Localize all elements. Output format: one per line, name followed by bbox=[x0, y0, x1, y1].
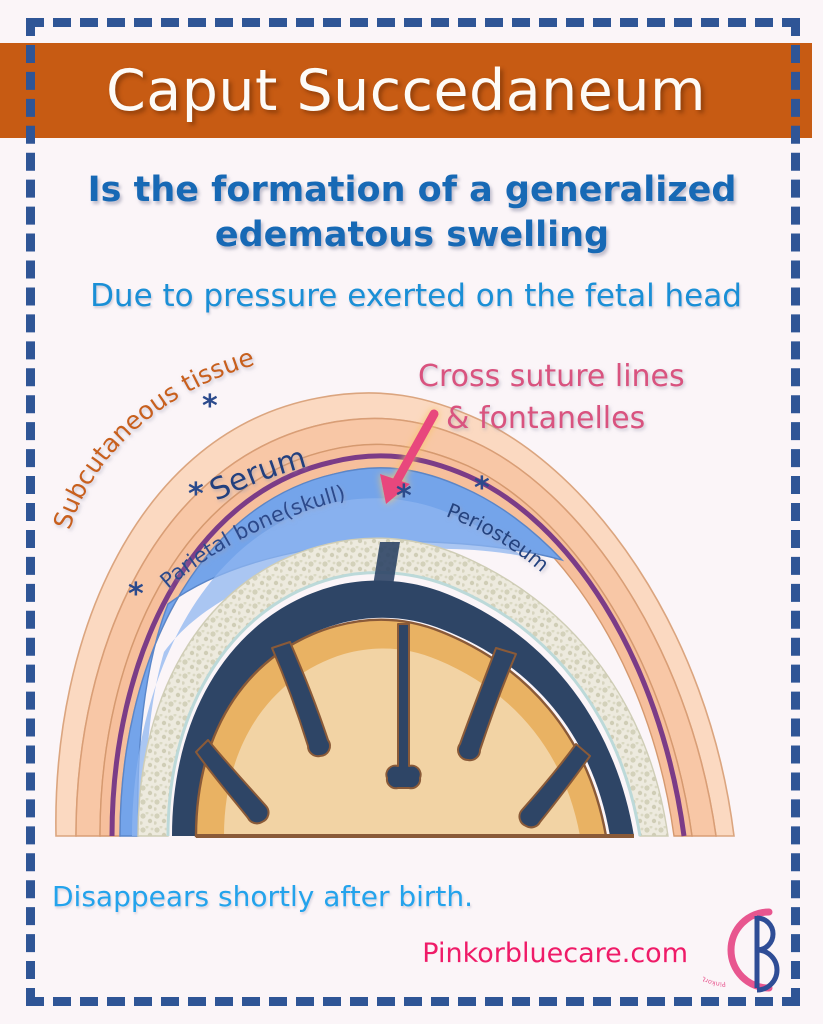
asterisk-periosteum: * bbox=[474, 471, 490, 506]
cross-suture-line2: & fontanelles bbox=[446, 401, 645, 436]
asterisk-subcutaneous: * bbox=[202, 389, 218, 424]
headline-line-1: Is the formation of a generalized bbox=[50, 168, 774, 213]
label-cross-suture-lines: Cross suture lines & fontanelles bbox=[418, 359, 685, 436]
site-name: Pinkorbluecare.com bbox=[422, 938, 688, 969]
headline-line-2: edematous swelling bbox=[50, 213, 774, 258]
cross-suture-line1: Cross suture lines bbox=[418, 359, 685, 394]
asterisk-parietal-bone: * bbox=[128, 577, 144, 612]
logo-curved-text: Pinkorbluecare.com bbox=[703, 939, 726, 988]
brand-logo[interactable]: Pinkorbluecare.com bbox=[703, 902, 803, 998]
title-bar: Caput Succedaneum bbox=[0, 43, 812, 138]
asterisk-suture: * bbox=[396, 479, 412, 514]
headline-block: Is the formation of a generalized edemat… bbox=[50, 168, 774, 258]
page-title: Caput Succedaneum bbox=[106, 58, 706, 124]
skull-cross-section-diagram: Subcutaneous tissue Serum Parietal bone(… bbox=[28, 336, 796, 866]
asterisk-serum: * bbox=[188, 477, 204, 512]
footer-note: Disappears shortly after birth. bbox=[52, 880, 473, 913]
infographic-poster: Subcutaneous tissue Serum Parietal bone(… bbox=[0, 0, 823, 1024]
subheadline: Due to pressure exerted on the fetal hea… bbox=[36, 278, 796, 315]
